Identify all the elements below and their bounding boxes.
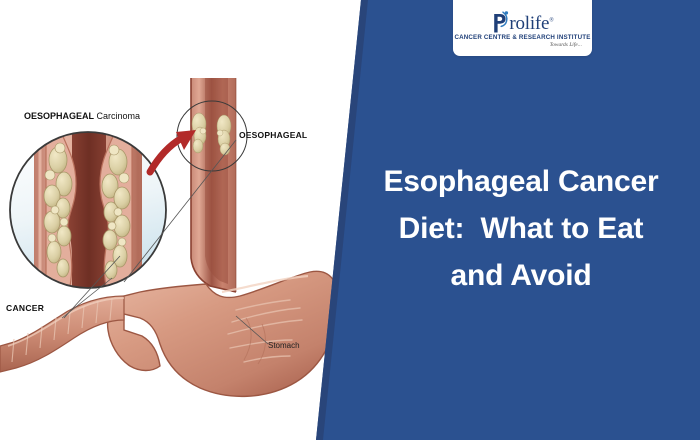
stomach — [108, 271, 339, 396]
label-cancer: CANCER — [6, 303, 44, 313]
logo-wordmark: rolife® — [491, 11, 553, 33]
logo-tagline: Towards Life... — [550, 42, 582, 49]
prolife-p-icon — [491, 11, 510, 33]
logo-word: rolife® — [509, 14, 553, 33]
infographic-banner: OESOPHAGEAL Carcinoma OESOPHAGEAL CANCER… — [0, 0, 700, 440]
label-stomach: Stomach — [268, 341, 300, 350]
page-title-line-1: Esophageal Cancer — [352, 158, 690, 205]
pointer-arrow — [150, 130, 196, 172]
label-oesophageal-carcinoma-normal: Carcinoma — [94, 111, 140, 121]
page-title-line-3: and Avoid — [352, 252, 690, 299]
page-title-line-2: Diet: What to Eat — [352, 205, 690, 252]
label-oesophageal-carcinoma: OESOPHAGEAL Carcinoma — [24, 111, 140, 121]
label-oesophageal-carcinoma-strong: OESOPHAGEAL — [24, 111, 94, 121]
page-title: Esophageal Cancer Diet: What to Eat and … — [352, 158, 690, 299]
logo-subtitle: CANCER CENTRE & RESEARCH INSTITUTE — [454, 34, 590, 42]
esophagus-tube — [177, 78, 247, 292]
anatomy-illustration — [0, 0, 340, 440]
brand-logo-card[interactable]: rolife® CANCER CENTRE & RESEARCH INSTITU… — [453, 0, 592, 56]
magnified-inset — [10, 120, 166, 300]
label-oesophageal: OESOPHAGEAL — [239, 130, 307, 140]
logo-registered-mark: ® — [549, 18, 553, 24]
